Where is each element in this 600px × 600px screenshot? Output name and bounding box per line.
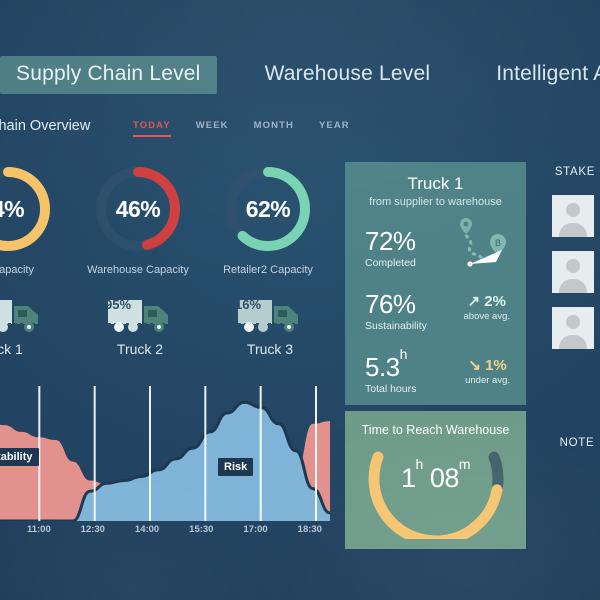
time-hours: 1: [401, 463, 416, 493]
truck-icon: [0, 294, 46, 338]
x-tick: 17:00: [243, 524, 267, 535]
delta-value: 2%: [484, 293, 506, 310]
truck-detail-panel: Truck 1 from supplier to warehouse 72% C…: [345, 162, 526, 405]
time-hours-unit: h: [416, 456, 423, 472]
user-icon: [552, 195, 594, 237]
x-tick: 14:00: [135, 524, 159, 535]
user-icon: [552, 251, 594, 293]
capacity-gauge-warehouse[interactable]: 46% Warehouse Capacity: [84, 162, 192, 276]
chart-label-profitability: Profitability: [0, 448, 39, 466]
truck-detail-subtitle: from supplier to warehouse: [345, 196, 526, 208]
truck-name: Truck 3: [216, 341, 324, 357]
capacity-gauge-retailer1[interactable]: 4% 1 Capacity: [0, 162, 62, 276]
time-minutes: 08: [430, 463, 459, 493]
range-year[interactable]: YEAR: [319, 120, 350, 131]
x-tick: 18:30: [298, 524, 322, 535]
tab-intelligent-agent[interactable]: Intelligent Age: [480, 56, 600, 94]
arrow-up-icon: ↗: [468, 293, 481, 310]
truck-name: ck 1: [0, 341, 64, 357]
donut-ring: 4%: [0, 162, 55, 256]
x-tick: 15:30: [189, 524, 213, 535]
gauge-value: 46%: [91, 162, 185, 256]
avatar[interactable]: [552, 251, 594, 293]
metric-completed: 72% Completed: [365, 228, 416, 269]
chart-x-axis: 9:30 11:00 12:30 14:00 15:30 17:00 18:30: [0, 524, 330, 535]
donut-ring: 46%: [91, 162, 185, 256]
metric-total-hours: 5.3h Total hours: [365, 354, 416, 395]
metric-value: 5.3: [365, 352, 400, 382]
truck-item-1[interactable]: % ck 1: [0, 292, 64, 357]
range-today[interactable]: TODAY: [133, 120, 171, 131]
notes-title: NOTE: [544, 437, 600, 449]
gauge-caption: Retailer2 Capacity: [214, 264, 322, 276]
chart-label-risk: Risk: [218, 458, 253, 476]
x-tick: 11:00: [27, 524, 51, 535]
time-panel-title: Time to Reach Warehouse: [345, 411, 526, 437]
metric-label: Sustainability: [365, 320, 427, 332]
metric-value: 76%: [365, 291, 427, 317]
gauge-caption: 1 Capacity: [0, 264, 62, 276]
gauge-value: 62%: [221, 162, 315, 256]
x-tick: 12:30: [81, 524, 105, 535]
svg-text:B: B: [495, 238, 501, 248]
capacity-gauges: 4% 1 Capacity 46% Warehouse Capacity 62%: [0, 162, 322, 276]
time-arc-gauge: 1h 08m: [356, 439, 516, 539]
truck-detail-title: Truck 1: [345, 162, 526, 194]
truck-fill-value: 95%: [105, 297, 131, 312]
time-to-warehouse-panel: Time to Reach Warehouse 1h 08m: [345, 411, 526, 549]
metric-label: Completed: [365, 257, 416, 269]
delta-label: under avg.: [465, 375, 510, 386]
truck-list: % ck 1 95% Truck 2: [0, 292, 324, 357]
capacity-gauge-retailer2[interactable]: 62% Retailer2 Capacity: [214, 162, 322, 276]
metric-label: Total hours: [365, 383, 416, 395]
truck-item-2[interactable]: 95% Truck 2: [86, 292, 194, 357]
overview-title: Chain Overview: [0, 118, 90, 134]
profitability-risk-chart[interactable]: Profitability Risk: [0, 386, 330, 521]
gauge-value: 4%: [0, 162, 55, 256]
dashboard-canvas: Supply Chain Level Warehouse Level Intel…: [0, 0, 600, 600]
range-filter: TODAY WEEK MONTH YEAR: [133, 120, 350, 131]
avatar[interactable]: [552, 195, 594, 237]
time-minutes-unit: m: [459, 456, 470, 472]
range-week[interactable]: WEEK: [196, 120, 229, 131]
truck-fill-value: 16%: [235, 297, 261, 312]
metric-value: 72%: [365, 228, 416, 254]
gauge-caption: Warehouse Capacity: [84, 264, 192, 276]
route-map-icon: B: [448, 214, 516, 272]
arrow-down-icon: ↘: [468, 357, 481, 374]
delta-sustainability: ↗ 2% above avg.: [464, 292, 510, 322]
range-month[interactable]: MONTH: [254, 120, 294, 131]
tab-supply-chain-level[interactable]: Supply Chain Level: [0, 56, 217, 94]
donut-ring: 62%: [221, 162, 315, 256]
delta-label: above avg.: [464, 311, 510, 322]
delta-total-hours: ↘ 1% under avg.: [465, 356, 510, 386]
stakeholders-title: STAKE: [542, 166, 600, 178]
stakeholder-avatars: [552, 195, 594, 349]
truck-item-3[interactable]: 16% Truck 3: [216, 292, 324, 357]
tab-warehouse-level[interactable]: Warehouse Level: [249, 56, 447, 94]
delta-value: 1%: [485, 357, 507, 374]
truck-name: Truck 2: [86, 341, 194, 357]
user-icon: [552, 307, 594, 349]
time-value: 1h 08m: [356, 463, 516, 494]
level-tabs: Supply Chain Level Warehouse Level Intel…: [0, 56, 600, 94]
metric-sustainability: 76% Sustainability: [365, 291, 427, 332]
metric-unit: h: [400, 346, 407, 362]
avatar[interactable]: [552, 307, 594, 349]
